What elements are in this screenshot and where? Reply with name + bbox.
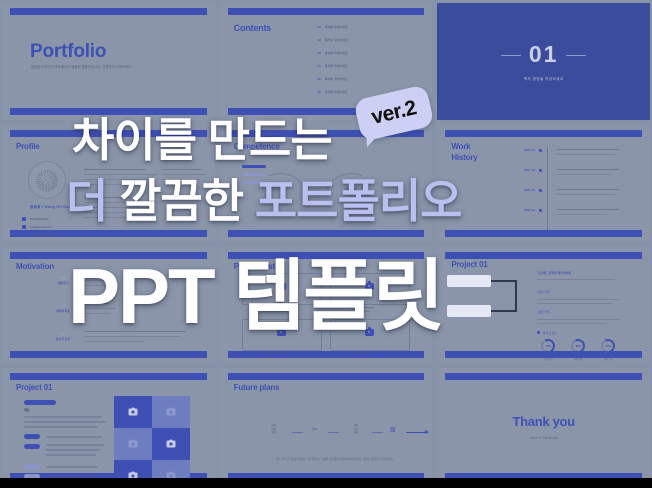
project01-section: 담당한 업무 (537, 311, 550, 315)
competence-node: 내용을 입력 (264, 187, 290, 191)
slide-top-bar (228, 8, 425, 15)
slide-top-bar (10, 373, 207, 380)
motivation-step: 01 지원 동기 (48, 275, 78, 285)
thumbnail-promo-image: Portfolio 깔끔한 디자인의 포트폴리오 템플릿 템플릿입니다. 간편하… (0, 0, 652, 488)
motivation-step: 02 성장과 목표 (48, 303, 78, 313)
slide-bottom-bar (445, 230, 642, 237)
slide-top-bar (10, 130, 207, 137)
slide-profile[interactable]: Profile 홍길동 / Hong Gil Dong 010-0000-000… (2, 125, 215, 242)
project01-gallery-title: Project 01 (16, 384, 52, 393)
slide-top-bar (445, 130, 642, 137)
work-row: 2019. 00. (515, 209, 542, 212)
work-title-line1: Work (451, 143, 470, 152)
book-icon: ▥ (388, 426, 398, 435)
work-row: 2022. 00. (515, 149, 542, 152)
avatar (28, 161, 66, 199)
label-chip (24, 464, 40, 468)
competence-title: Competence (234, 143, 280, 152)
slide-contents[interactable]: Contents 01목차를 작성하세요 02목차를 작성하세요 03목차를 작… (220, 3, 433, 120)
portfolio-subtitle: 깔끔한 디자인의 포트폴리오 템플릿 템플릿입니다. 간편하게 수정하세요 (31, 65, 131, 70)
thank-you-subtitle: Jinie's Portfolio (529, 436, 559, 440)
slide-top-bar (228, 252, 425, 259)
contents-item: 02목차를 작성하세요 (318, 38, 348, 42)
slide-top-bar (10, 8, 207, 15)
slide-bottom-bar (10, 108, 207, 115)
gauge: 70% 내용 입력 (541, 339, 555, 353)
project-subhead: 개요 (24, 408, 30, 413)
profile-contact: email@email.com (22, 225, 52, 229)
slide-work-history[interactable]: Work History 2022. 00. 2021. 00. 2020. 0… (437, 125, 650, 242)
slide-top-bar (228, 130, 425, 137)
slide-bottom-bar (10, 351, 207, 358)
slide-project01-detail[interactable]: Project 01 프로젝트 진행한 핵심역량점 담당한 업무 담당한 업무 … (437, 247, 650, 364)
slide-divider-01[interactable]: 01 목차 명칭을 작성하세요 (437, 3, 650, 120)
portfolio-title: Portfolio (30, 41, 106, 62)
work-title-line2: History (451, 154, 477, 163)
image-placeholder[interactable] (152, 396, 190, 428)
phone-icon (22, 217, 26, 221)
project01-section: 담당한 업무 (537, 291, 550, 295)
work-row: 2020. 00. (515, 189, 542, 192)
slide-top-bar (445, 252, 642, 259)
slide-project-list[interactable]: Project List (220, 247, 433, 364)
thank-you-title: Thank you (513, 414, 575, 429)
project01-headline: 프로젝트 진행한 핵심역량점 (537, 271, 571, 275)
slide-top-bar (10, 252, 207, 259)
slide-bottom-bar (228, 230, 425, 237)
image-placeholder[interactable] (114, 396, 152, 428)
project-card[interactable] (242, 273, 322, 305)
slide-grid: Portfolio 깔끔한 디자인의 포트폴리오 템플릿 템플릿입니다. 간편하… (0, 0, 652, 488)
gauge: 80% 내용 입력 (571, 339, 585, 353)
contents-item: 06목차를 작성하세요 (318, 90, 348, 94)
project-card[interactable] (330, 273, 410, 305)
image-placeholder[interactable] (152, 428, 190, 460)
slide-future-plans[interactable]: Future plans 현재 나의 위치 ✂ 성장 나의 미래 ▥ 향후 계획… (220, 368, 433, 485)
future-note: 향후 계획 및 목표를 작성하는 영역입니다. 내용을 자유롭게 수정하여 사용… (276, 458, 396, 462)
contents-item: 04목차를 작성하세요 (318, 64, 348, 68)
project-list-title: Project List (234, 263, 275, 272)
competence-node: 내용을 입력 (338, 187, 364, 191)
slide-portfolio[interactable]: Portfolio 깔끔한 디자인의 포트폴리오 템플릿 템플릿입니다. 간편하… (2, 3, 215, 120)
slide-top-bar (228, 373, 425, 380)
gauge: 50% 내용 입력 (601, 339, 615, 353)
slide-competence[interactable]: Competence 내용을 입력 내용을 입력 (220, 125, 433, 242)
slide-bottom-bar (228, 108, 425, 115)
project01-result: 성과 및 결과 (537, 331, 556, 335)
future-plans-title: Future plans (234, 384, 280, 393)
project-tag (24, 400, 56, 404)
project01-detail-title: Project 01 (451, 261, 487, 270)
contents-item: 03목차를 작성하세요 (318, 51, 348, 55)
motivation-step: 03 입사 후 포부 (48, 331, 78, 341)
profile-name: 홍길동 / Hong Gil Dong (30, 205, 74, 210)
contents-title: Contents (234, 23, 271, 33)
divider-number: 01 (529, 41, 559, 68)
contents-item: 01목차를 작성하세요 (318, 25, 348, 29)
divider-caption: 목차 명칭을 작성하세요 (524, 77, 564, 82)
letterbox-bar (0, 478, 652, 488)
label-chip (24, 444, 40, 448)
slide-top-bar (445, 373, 642, 380)
mail-icon (22, 225, 26, 229)
work-row: 2021. 00. (515, 169, 542, 172)
future-node: 현재 나의 위치 (262, 424, 286, 434)
contents-item: 05목차를 작성하세요 (318, 77, 348, 81)
slide-motivation[interactable]: Motivation 01 지원 동기 02 성장과 목표 03 입사 후 포부 (2, 247, 215, 364)
slide-thank-you[interactable]: Thank you Jinie's Portfolio (437, 368, 650, 485)
profile-contact: 010-0000-0000 (22, 217, 48, 221)
profile-contact: 서울특별시 00구 00동 (22, 233, 55, 237)
label-chip (24, 434, 40, 438)
image-placeholder[interactable] (114, 428, 152, 460)
location-icon (22, 233, 26, 237)
profile-title: Profile (16, 143, 40, 152)
project-card[interactable] (242, 319, 322, 351)
project-card[interactable] (330, 319, 410, 351)
image-grid (114, 396, 190, 485)
scissors-icon: ✂ (308, 426, 322, 435)
slide-project01-gallery[interactable]: Project 01 개요 (2, 368, 215, 485)
future-node: 성장 나의 미래 (344, 424, 368, 434)
slide-bottom-bar (228, 351, 425, 358)
motivation-title: Motivation (16, 263, 54, 272)
